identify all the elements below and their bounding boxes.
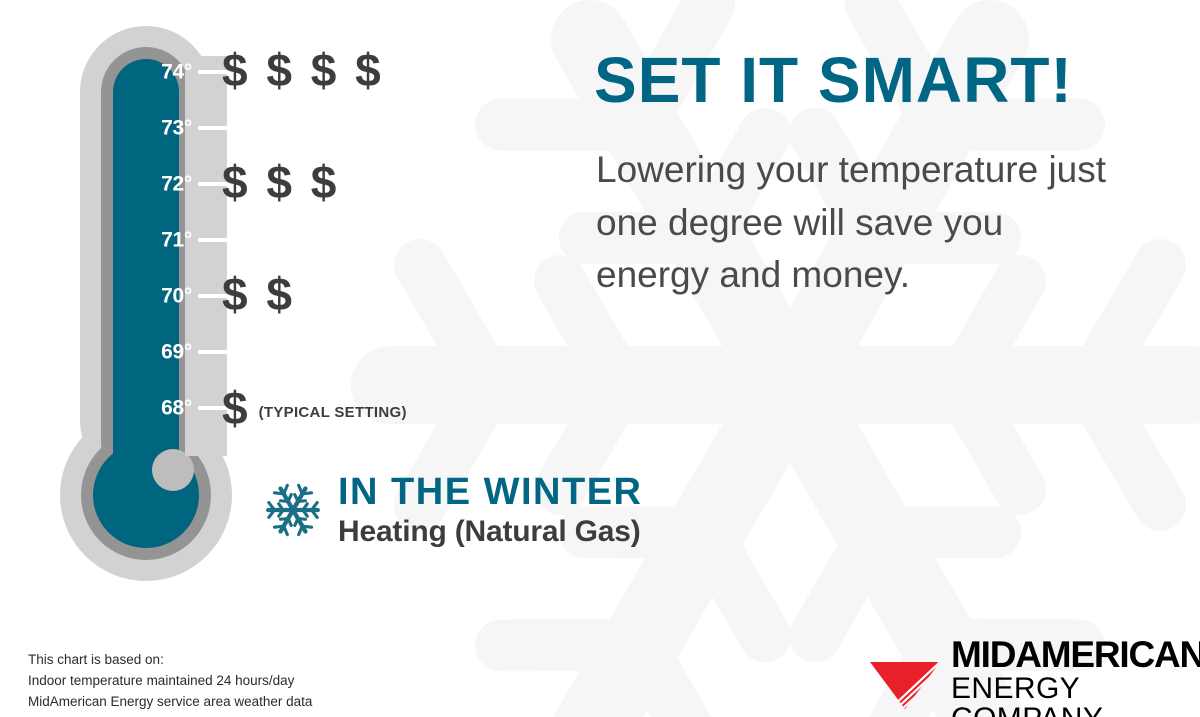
footnote-line-3: MidAmerican Energy service area weather …	[28, 692, 312, 713]
dollars-72: $ $ $	[222, 159, 339, 205]
snowflake-icon	[262, 479, 324, 541]
page-title: SET IT SMART!	[594, 48, 1134, 112]
winter-text-group: IN THE WINTER Heating (Natural Gas)	[338, 473, 642, 547]
typical-setting-note: (TYPICAL SETTING)	[259, 404, 407, 421]
page-subtitle: Lowering your temperature just one degre…	[596, 144, 1124, 302]
dollars-74-symbols: $ $ $ $	[222, 44, 384, 96]
dollars-68: $(TYPICAL SETTING)	[222, 385, 407, 431]
winter-subtitle: Heating (Natural Gas)	[338, 517, 642, 547]
temp-label-69: 69°	[130, 342, 192, 363]
footnote: This chart is based on: Indoor temperatu…	[28, 650, 312, 713]
tick-71	[198, 238, 248, 242]
winter-title: IN THE WINTER	[338, 473, 642, 513]
dollars-68-symbols: $	[222, 382, 251, 434]
temp-label-74: 74°	[130, 62, 192, 83]
temp-label-72: 72°	[130, 174, 192, 195]
logo-word-midamerican: MIDAMERICAN	[951, 636, 1200, 673]
temp-label-68: 68°	[130, 398, 192, 419]
infographic-canvas: 74° $ $ $ $ 73° 72° $ $ $ 71° 70° $ $ 69…	[0, 0, 1200, 717]
winter-section: IN THE WINTER Heating (Natural Gas)	[262, 473, 642, 547]
midamerican-energy-logo: MIDAMERICAN ENERGY COMPANY.	[868, 636, 1200, 717]
tick-69	[198, 350, 248, 354]
temp-label-71: 71°	[130, 230, 192, 251]
dollars-70: $ $	[222, 271, 295, 317]
temp-label-73: 73°	[130, 118, 192, 139]
dollars-74: $ $ $ $	[222, 47, 384, 93]
logo-wordmark: MIDAMERICAN ENERGY COMPANY.	[951, 636, 1200, 717]
tick-73	[198, 126, 248, 130]
dollars-72-symbols: $ $ $	[222, 156, 339, 208]
temp-label-70: 70°	[130, 286, 192, 307]
footnote-line-1: This chart is based on:	[28, 650, 312, 671]
red-triangle-logo-mark	[868, 659, 942, 711]
footnote-line-2: Indoor temperature maintained 24 hours/d…	[28, 671, 312, 692]
logo-word-energy-company: ENERGY COMPANY.	[951, 674, 1200, 717]
dollars-70-symbols: $ $	[222, 268, 295, 320]
